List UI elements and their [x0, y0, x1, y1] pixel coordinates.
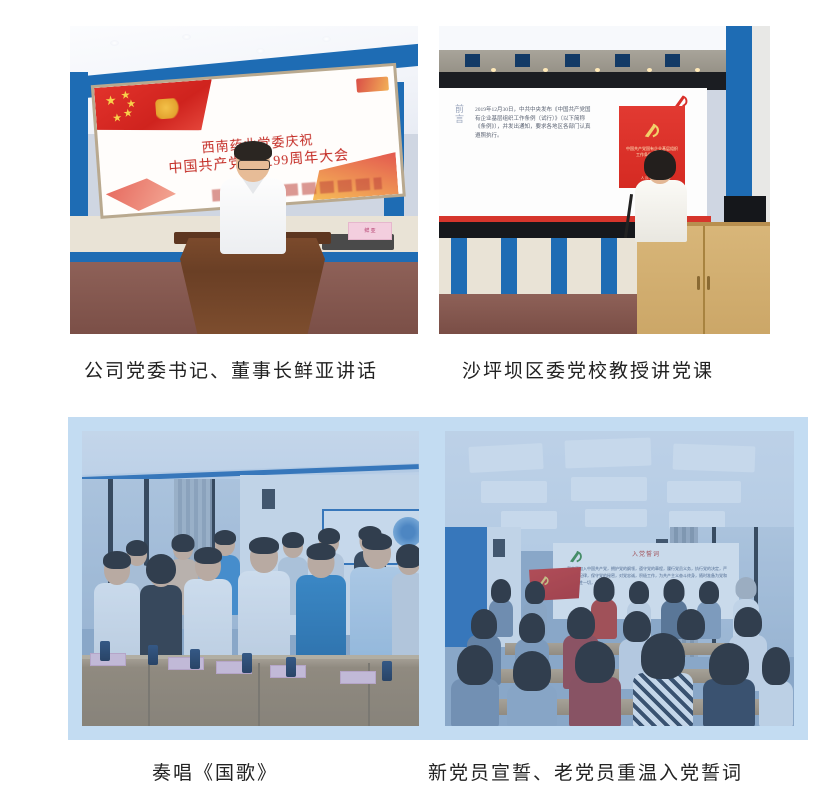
photo-oath-ceremony: 入党誓词 我志愿加入中国共产党，拥护党的纲领，遵守党的章程，履行党员义务，执行党…: [445, 431, 794, 726]
beam-block: [515, 54, 530, 67]
blue-pillar: [726, 26, 752, 216]
person-body: [392, 573, 419, 661]
person-hair: [641, 633, 685, 679]
person-body: [569, 677, 621, 726]
person-hair: [103, 551, 131, 569]
blue-pillar: [451, 238, 467, 300]
table-seam: [258, 663, 260, 726]
person-hair: [699, 581, 719, 604]
beam-block: [565, 54, 580, 67]
ribbon-ornament: [105, 176, 177, 213]
person-hair: [736, 577, 757, 599]
photo-party-secretary-speech: ★ ★ ★ ★ ★ 西南药业党委庆祝 中国共产党成立99周年大会 鲜 亚: [70, 26, 418, 334]
water-cup: [382, 661, 392, 681]
lecturer-hair: [644, 150, 676, 180]
blue-pillar: [601, 238, 617, 300]
water-cup: [100, 641, 110, 661]
downlight-icon: [110, 40, 119, 46]
person-hair: [525, 581, 545, 604]
caption-photo-1: 公司党委书记、董事长鲜亚讲话: [84, 356, 378, 383]
lecturer-shirt: [635, 180, 687, 242]
name-placard-label: 鲜 亚: [349, 227, 391, 234]
flag-star-icon: ★: [112, 113, 123, 125]
ceiling-light-panel: [571, 477, 647, 501]
screen-corner-ornament: [356, 76, 389, 92]
person-body: [633, 673, 693, 726]
caption-photo-3: 奏唱《国歌》: [152, 758, 278, 785]
collage-page: ★ ★ ★ ★ ★ 西南药业党委庆祝 中国共产党成立99周年大会 鲜 亚: [0, 0, 833, 804]
person-hair: [567, 607, 595, 639]
blue-pillar: [501, 238, 517, 300]
photo-national-anthem: [82, 431, 419, 726]
person-figure: [184, 545, 232, 661]
downlight-icon: [182, 34, 191, 40]
wall-speaker: [262, 489, 275, 509]
beam-block: [615, 54, 630, 67]
flag-star-icon: ★: [105, 94, 117, 106]
person-body: [759, 681, 793, 726]
slide-side-label: 前言: [453, 104, 466, 124]
person-hair: [146, 554, 176, 584]
person-hair: [396, 544, 419, 568]
person-figure: [703, 643, 755, 726]
person-body: [238, 571, 290, 661]
person-hair: [709, 643, 749, 685]
ceiling-light-panel: [565, 438, 652, 469]
water-cup: [190, 649, 200, 669]
top-photo-row: ★ ★ ★ ★ ★ 西南药业党委庆祝 中国共产党成立99周年大会 鲜 亚: [0, 26, 833, 336]
wall-speaker: [493, 539, 505, 557]
eyeglasses-icon: [238, 160, 270, 170]
speaker-hair: [234, 141, 272, 161]
person-figure: [238, 535, 290, 661]
person-hair: [762, 647, 790, 685]
person-hair: [513, 651, 551, 691]
lecturer-figure: [635, 154, 687, 242]
blue-pillar: [551, 238, 567, 300]
person-figure: [759, 647, 793, 726]
ceiling-light-panel: [667, 481, 741, 503]
person-figure: [633, 633, 693, 726]
person-hair: [594, 577, 615, 602]
person-figure: [451, 645, 499, 726]
person-hair: [664, 579, 685, 603]
beam-block: [665, 54, 680, 67]
cabinet-handle: [707, 276, 710, 290]
person-hair: [362, 533, 392, 550]
name-card: [340, 671, 376, 684]
party-emblem-icon: [155, 98, 182, 120]
ceiling-light-panel: [673, 444, 756, 473]
person-hair: [307, 543, 336, 560]
person-figure: [569, 641, 621, 726]
person-body: [140, 585, 182, 661]
ceiling-light-panel: [468, 443, 543, 473]
cabinet-seam: [703, 226, 705, 334]
party-emblem-icon: [641, 122, 663, 140]
table-seam: [148, 663, 150, 726]
name-placard: 鲜 亚: [348, 222, 392, 240]
person-hair: [194, 547, 222, 564]
cabinet-handle: [697, 276, 700, 290]
chinese-flag-icon: ★ ★ ★ ★ ★: [94, 79, 215, 138]
ceiling-light-panel: [481, 481, 547, 503]
person-hair: [629, 581, 649, 604]
person-figure: [296, 541, 346, 661]
person-hair: [519, 613, 545, 643]
person-hair: [457, 645, 493, 685]
caption-photo-4: 新党员宣誓、老党员重温入党誓词: [428, 758, 743, 785]
water-cup: [148, 645, 158, 665]
slide-title: 入党誓词: [553, 549, 739, 558]
bottom-photo-frame: 入党誓词 我志愿加入中国共产党，拥护党的纲领，遵守党的章程，履行党员义务，执行党…: [68, 417, 808, 740]
person-figure: [140, 553, 182, 661]
person-hair: [491, 579, 511, 603]
photo-party-school-lecture: 前言 2019年12月30日，中共中央发布《中国共产党国有企业基层组织工作条例（…: [439, 26, 770, 334]
slide-body-text: 2019年12月30日，中共中央发布《中国共产党国有企业基层组织工作条例（试行）…: [475, 106, 593, 140]
downlight-icon: [256, 48, 265, 54]
person-hair: [734, 607, 762, 637]
person-hair: [214, 530, 236, 545]
person-body: [507, 685, 557, 726]
person-body: [703, 679, 755, 726]
person-hair: [471, 609, 497, 639]
person-body: [451, 679, 499, 726]
person-figure: [507, 651, 557, 726]
speaker-figure: [220, 144, 286, 254]
water-cup: [242, 653, 252, 673]
person-hair: [249, 537, 279, 554]
ceiling-light-panel: [585, 509, 647, 527]
caption-photo-2: 沙坪坝区委党校教授讲党课: [462, 356, 714, 383]
downlight-icon: [322, 36, 331, 42]
person-hair: [575, 641, 615, 683]
water-cup: [286, 657, 296, 677]
person-body: [296, 575, 346, 661]
person-figure: [392, 543, 419, 661]
beam-block: [465, 54, 480, 67]
flag-star-icon: ★: [123, 108, 134, 120]
